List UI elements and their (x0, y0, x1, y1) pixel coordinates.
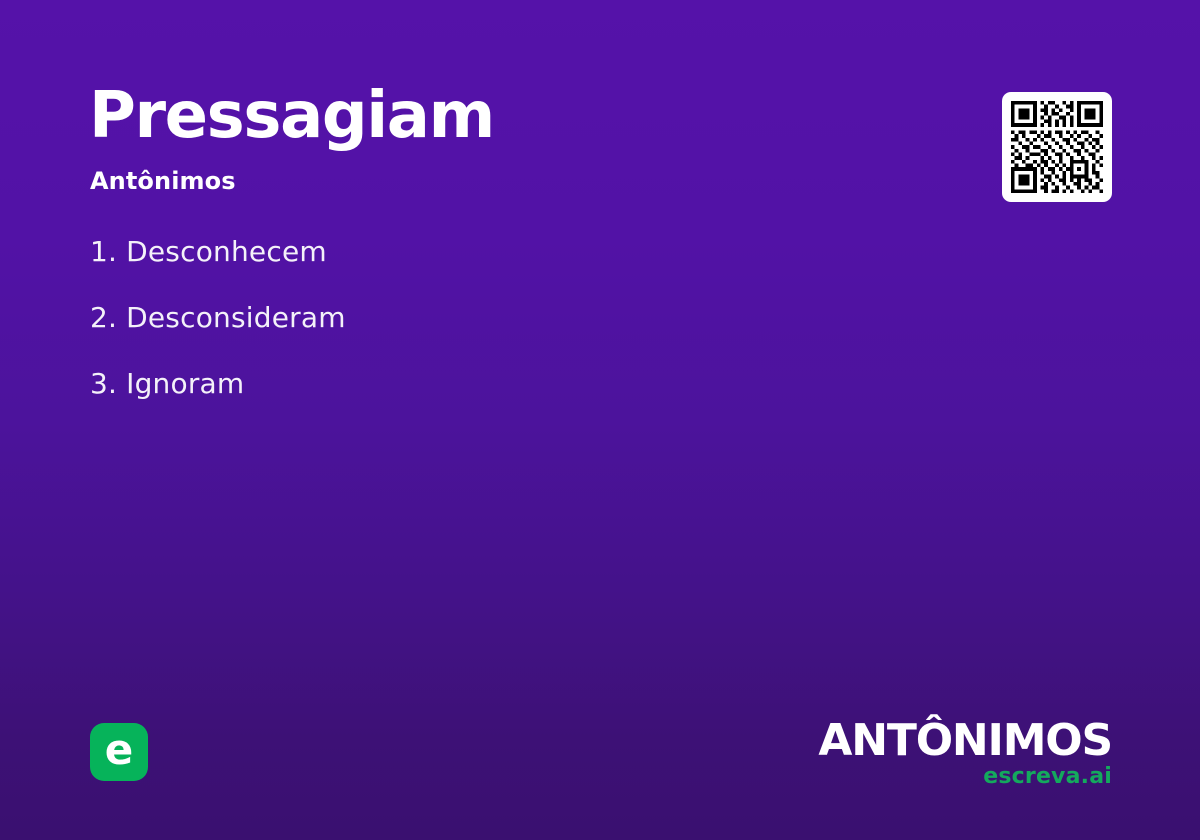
wordmark-title: ANTÔNIMOS (818, 719, 1112, 763)
list-item: 1.Desconhecem (90, 238, 850, 266)
escreva-e-logo-icon[interactable]: e (90, 723, 148, 781)
brand-mark-letter: e (105, 729, 134, 771)
list-item-label: Ignoram (126, 367, 244, 400)
list-item-label: Desconsideram (126, 301, 346, 334)
list-item-label: Desconhecem (126, 235, 327, 268)
list-item: 3.Ignoram (90, 370, 850, 398)
list-item-index: 1. (90, 238, 117, 266)
antonyms-card: Pressagiam Antônimos 1.Desconhecem 2.Des… (0, 0, 1200, 840)
list-item-index: 3. (90, 370, 117, 398)
list-item: 2.Desconsideram (90, 304, 850, 332)
qr-code-icon[interactable] (1002, 92, 1112, 202)
page-title: Pressagiam (89, 84, 494, 148)
page-subtitle: Antônimos (90, 168, 236, 196)
list-item-index: 2. (90, 304, 117, 332)
brand-wordmark: ANTÔNIMOS escreva.ai (818, 719, 1112, 788)
wordmark-domain: escreva.ai (818, 766, 1112, 788)
antonym-list: 1.Desconhecem 2.Desconsideram 3.Ignoram (90, 238, 850, 436)
